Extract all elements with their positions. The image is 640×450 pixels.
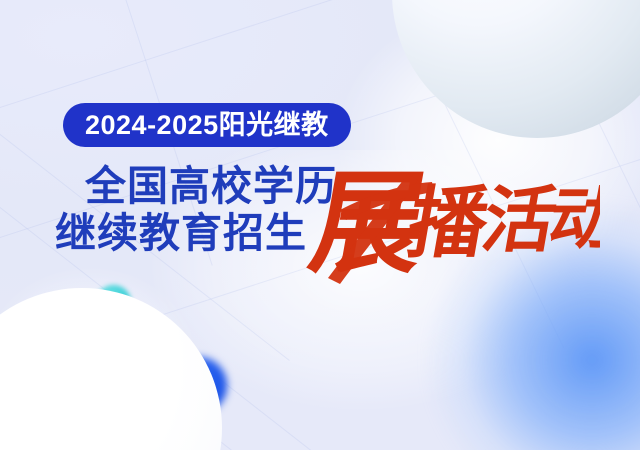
banner-content: 2024-2025阳光继教 全国高校学历 继续教育招生 展 播 活 动 [0, 0, 640, 450]
promo-banner: 2024-2025阳光继教 全国高校学历 继续教育招生 展 播 活 动 [0, 0, 640, 450]
calligraphy-title: 展 播 活 动 [300, 150, 600, 290]
headline-line-2: 继续教育招生 [55, 213, 307, 254]
